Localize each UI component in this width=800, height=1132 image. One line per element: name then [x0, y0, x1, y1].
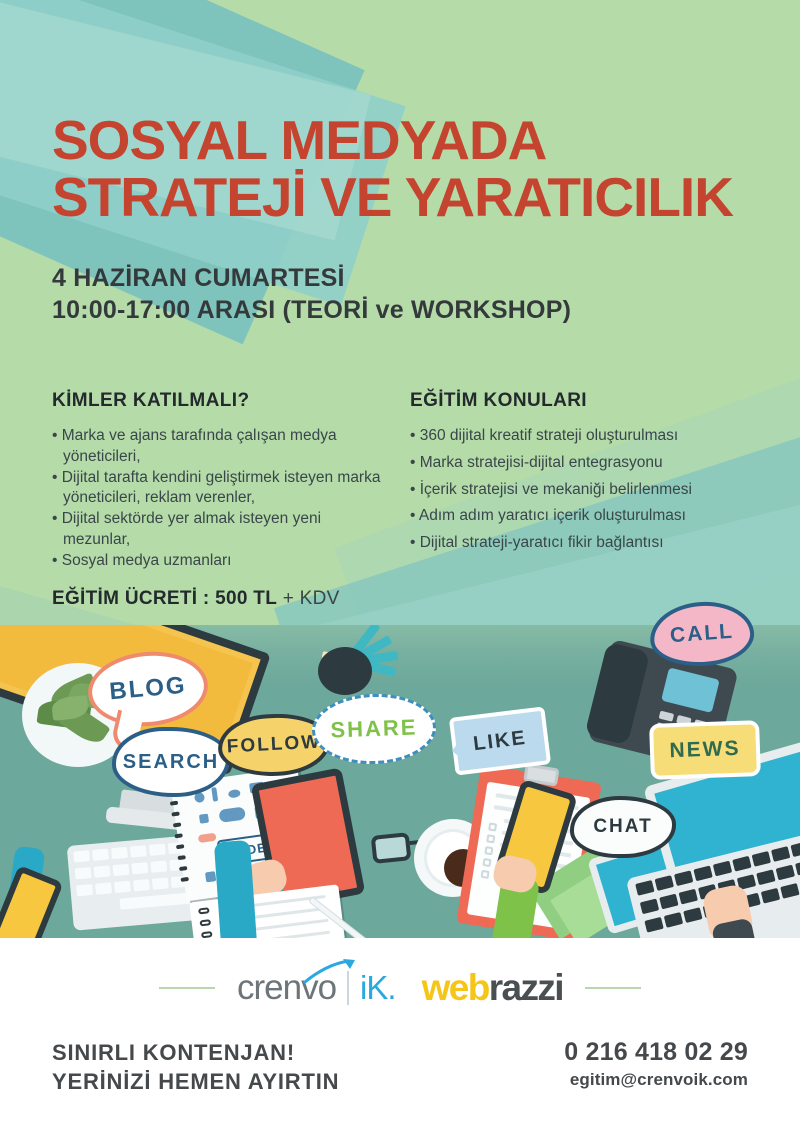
cta-text: SINIRLI KONTENJAN! YERİNİZİ HEMEN AYIRTI…: [52, 1038, 339, 1096]
list-item: • Marka stratejisi-dijital entegrasyonu: [410, 453, 760, 474]
webrazzi-web: web: [422, 967, 489, 1008]
subtitle-line-1: 4 HAZİRAN CUMARTESİ: [52, 264, 345, 292]
list-item: • İçerik stratejisi ve mekaniği belirlen…: [410, 480, 760, 501]
email-address[interactable]: egitim@crenvoik.com: [564, 1070, 748, 1090]
audience-list: • Marka ve ajans tarafında çalışan medya…: [52, 426, 392, 571]
list-item: • Adım adım yaratıcı içerik oluşturulmas…: [410, 506, 760, 527]
webrazzi-logo[interactable]: webrazzi: [422, 967, 563, 1009]
phone-number[interactable]: 0 216 418 02 29: [564, 1038, 748, 1067]
smartphone-icon: [0, 865, 64, 940]
topics-column: EĞİTİM KONULARI • 360 dijital kreatif st…: [410, 390, 760, 560]
topics-heading: EĞİTİM KONULARI: [410, 390, 760, 412]
list-item: • Dijital strateji-yaratıcı fikir bağlan…: [410, 533, 760, 554]
footer: crenvo iK. webrazzi SINIRLI KONTENJAN! Y…: [0, 938, 800, 1132]
webrazzi-razzi: razzi: [489, 967, 563, 1008]
divider-left: [159, 987, 215, 989]
audience-heading: KİMLER KATILMALI?: [52, 390, 392, 412]
cta-line-1: SINIRLI KONTENJAN!: [52, 1038, 339, 1067]
bubble-search: SEARCH: [112, 727, 230, 797]
logo-row: crenvo iK. webrazzi: [0, 952, 800, 1024]
divider-right: [585, 987, 641, 989]
poster-title: SOSYAL MEDYADA STRATEJİ VE YARATICILIK: [52, 112, 772, 226]
poster: VIDEO: [0, 0, 800, 1132]
contact-details: 0 216 418 02 29 egitim@crenvoik.com: [564, 1038, 748, 1090]
crenvo-ik-text: iK.: [360, 969, 396, 1007]
poster-subtitle: 4 HAZİRAN CUMARTESİ 10:00-17:00 ARASI (T…: [52, 262, 752, 326]
bubble-news: NEWS: [649, 720, 761, 780]
bubble-like: LIKE: [449, 706, 551, 775]
subtitle-line-2: 10:00-17:00 ARASI (TEORİ ve WORKSHOP): [52, 296, 571, 324]
bubble-chat: CHAT: [570, 796, 676, 858]
price-kdv: + KDV: [277, 588, 340, 609]
list-item: • Dijital sektörde yer almak isteyen yen…: [52, 509, 392, 551]
list-item: • Dijital tarafta kendini geliştirmek is…: [52, 468, 392, 510]
list-item: • 360 dijital kreatif strateji oluşturul…: [410, 426, 760, 447]
crenvo-logo[interactable]: crenvo iK.: [237, 968, 396, 1008]
pencil-cup: [318, 647, 372, 695]
swoosh-icon: [303, 958, 357, 984]
topics-list: • 360 dijital kreatif strateji oluşturul…: [410, 426, 760, 554]
contact-bar: SINIRLI KONTENJAN! YERİNİZİ HEMEN AYIRTI…: [0, 1038, 800, 1096]
list-item: • Marka ve ajans tarafında çalışan medya…: [52, 426, 392, 468]
logo-group: crenvo iK. webrazzi: [237, 967, 563, 1009]
title-line-2: STRATEJİ VE YARATICILIK: [52, 169, 772, 226]
price-label: EĞİTİM ÜCRETİ : 500 TL: [52, 588, 277, 609]
title-line-1: SOSYAL MEDYADA: [52, 109, 546, 171]
audience-column: KİMLER KATILMALI? • Marka ve ajans taraf…: [52, 390, 392, 571]
list-item: • Sosyal medya uzmanları: [52, 551, 392, 572]
price-line: EĞİTİM ÜCRETİ : 500 TL + KDV: [52, 588, 340, 610]
cta-line-2: YERİNİZİ HEMEN AYIRTIN: [52, 1067, 339, 1096]
